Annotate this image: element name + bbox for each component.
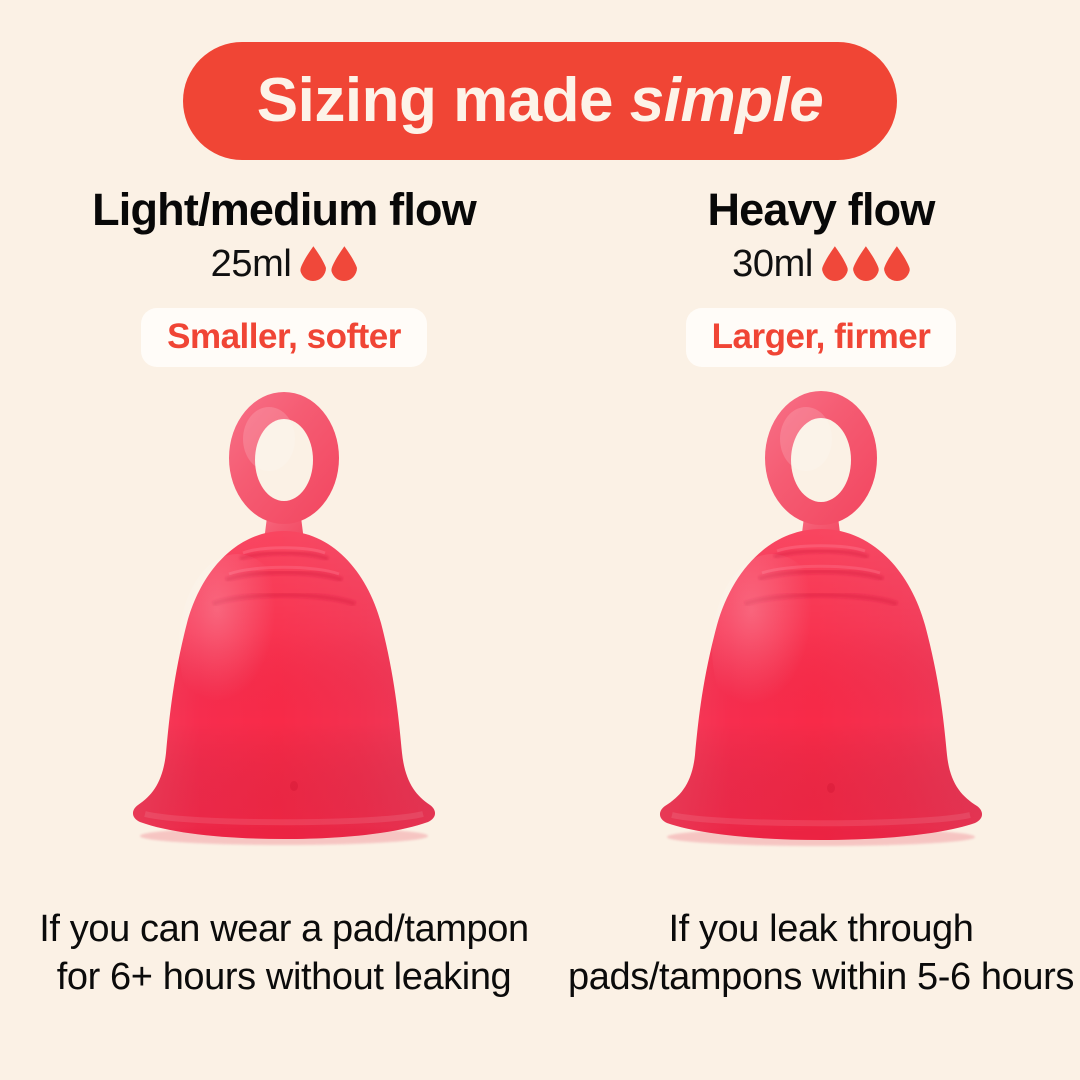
column-heavy: Heavy flow 30ml Larger, firmer xyxy=(571,186,1071,851)
blood-drop-icon xyxy=(331,246,357,281)
blood-drop-icon xyxy=(300,246,326,281)
banner-title-italic: simple xyxy=(630,66,823,135)
banner-heading: Sizing made simple xyxy=(183,42,897,160)
banner-title-regular: Sizing made xyxy=(257,66,630,135)
volume-value-light-medium: 25ml xyxy=(211,245,292,283)
blood-drop-icon xyxy=(853,246,879,281)
blood-drop-icon xyxy=(884,246,910,281)
menstrual-cup-icon-large xyxy=(646,381,996,851)
blood-drop-icons-heavy xyxy=(822,246,910,281)
badge-light-medium: Smaller, softer xyxy=(141,308,427,367)
banner-title: Sizing made simple xyxy=(257,70,823,132)
infographic-canvas: Sizing made simple Light/medium flow 25m… xyxy=(0,0,1080,1080)
column-title-heavy: Heavy flow xyxy=(707,186,934,234)
column-light-medium: Light/medium flow 25ml Smaller, softer xyxy=(34,186,534,851)
caption-light-medium: If you can wear a pad/tampon for 6+ hour… xyxy=(29,906,539,1002)
badge-label-light-medium: Smaller, softer xyxy=(167,319,401,354)
blood-drop-icon xyxy=(822,246,848,281)
column-title-light-medium: Light/medium flow xyxy=(92,186,476,234)
badge-label-heavy: Larger, firmer xyxy=(712,319,931,354)
volume-row-light-medium: 25ml xyxy=(211,242,358,286)
blood-drop-icons-light-medium xyxy=(300,246,357,281)
badge-heavy: Larger, firmer xyxy=(686,308,957,367)
caption-heavy: If you leak through pads/tampons within … xyxy=(566,906,1076,1002)
volume-row-heavy: 30ml xyxy=(732,242,910,286)
menstrual-cup-icon-small xyxy=(119,381,449,851)
volume-value-heavy: 30ml xyxy=(732,245,813,283)
